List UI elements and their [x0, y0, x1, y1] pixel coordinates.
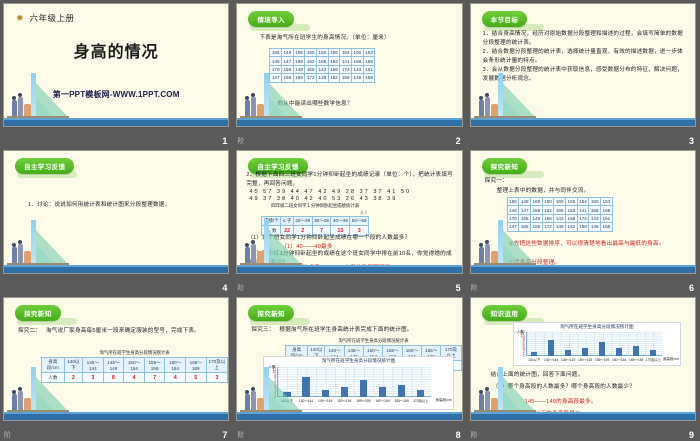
- table-row: 145147159162165153141158169: [507, 206, 612, 214]
- table-cell-value: 7: [144, 373, 165, 382]
- table-header-cell: 170及以上: [206, 358, 228, 373]
- decoration-figure: [474, 218, 544, 266]
- page-number: 1: [222, 136, 227, 146]
- chart-bar: [565, 350, 571, 356]
- section-badge: 情境导入: [248, 11, 294, 27]
- grade-label: 六年级上册: [30, 12, 75, 24]
- table-cell: 165: [317, 57, 329, 65]
- table-cell: 153: [601, 198, 613, 206]
- x-axis-tick: 145～149: [561, 357, 575, 362]
- table-header-cell: 30～39: [312, 217, 331, 226]
- table-caption: 淘气所在班学生身高分段情况统计表: [41, 350, 228, 356]
- table-cell: 162: [542, 206, 554, 214]
- page-badge: 阶: [237, 430, 244, 440]
- table-cell: 169: [363, 57, 375, 65]
- page-badge: 阶: [471, 283, 478, 293]
- page-number: 9: [689, 430, 694, 440]
- page-number: 8: [456, 430, 461, 440]
- slide-footer-bar: [4, 413, 228, 420]
- page-number: 6: [689, 283, 694, 293]
- table-cell: 141: [577, 206, 589, 214]
- table-cell: 154: [577, 198, 589, 206]
- table-header-cell: 165～169: [185, 358, 206, 373]
- decoration-figure: [474, 365, 544, 413]
- discuss-line: 1．讨论：说说如何用统计表和统计图来分段整理数据。: [28, 201, 218, 210]
- table-cell: 151: [601, 214, 613, 222]
- table-cell: 166: [542, 214, 554, 222]
- table-cell: 162: [305, 57, 317, 65]
- chart-bar: [360, 380, 367, 398]
- slide-footer-bar: [471, 413, 695, 420]
- x-axis-tick: 170及以上: [413, 398, 428, 403]
- table-cell: 143: [554, 214, 566, 222]
- slide-cell-2[interactable]: 情境导入 下表是淘气所在班学生的身高情况。（单位：厘米） 16514816815…: [233, 0, 466, 147]
- bar-chart: 淘气所在班学生身高分段情况统计图 0123456789101112人数140以下…: [513, 322, 681, 366]
- slide-grid: ✹ 六年级上册 身高的情况 第一PPT模板网-WWW.1PPT.COM 1 情境…: [0, 0, 700, 441]
- table-cell: 169: [601, 206, 613, 214]
- page-number: 7: [222, 430, 227, 440]
- table-cell: 165: [507, 198, 519, 206]
- table-cell: 160: [352, 49, 364, 57]
- table-cell: 158: [363, 74, 375, 82]
- grade-logo: ✹ 六年级上册: [16, 12, 75, 24]
- chart-title: 淘气所在班学生身高分段情况统计图: [514, 323, 680, 330]
- table-cell: 168: [293, 49, 305, 57]
- table-header-cell: 155～159: [144, 358, 165, 373]
- slide-thumbnail-7[interactable]: 探究新知 探究二： 淘气说厂家身高每5厘米一段来确定服装的型号，完成下表。 淘气…: [3, 297, 229, 421]
- slide-footer-bar: [237, 266, 461, 273]
- table-cell: 158: [328, 65, 340, 73]
- chart-bar: [531, 352, 537, 356]
- x-axis-tick: 155～159: [356, 398, 370, 403]
- section-badge: 本节目标: [482, 11, 528, 27]
- table-header-cell: 40～49: [331, 217, 350, 226]
- chart-bar: [548, 340, 554, 356]
- table-cell: 143: [317, 65, 329, 73]
- table-cell: 160: [589, 198, 601, 206]
- table-cell: 158: [352, 57, 364, 65]
- chart-bar: [417, 390, 424, 398]
- slide-thumbnail-3[interactable]: 本节目标 1．结合身高情况，经历对原始数据分段整理和描述的过程，会填写简单的数据…: [470, 3, 696, 127]
- chart-plot-area: 0123456789101112人数140以下140～144145～149150…: [514, 330, 680, 365]
- star-icon: ✹: [16, 14, 24, 23]
- x-axis-tick: 145～149: [318, 398, 332, 403]
- table-cell: 158: [577, 223, 589, 231]
- table-cell: 154: [340, 49, 352, 57]
- chart-bar: [341, 387, 348, 397]
- chart-bar: [379, 387, 386, 397]
- decoration-figure: [7, 71, 77, 119]
- table-cell: 174: [340, 65, 352, 73]
- table-header-cell: 150～154: [124, 358, 145, 373]
- table-cell: 160: [554, 198, 566, 206]
- slide8-heading: 探究三：: [251, 326, 274, 335]
- table-cell-value: 4: [165, 373, 186, 382]
- table-cell: 146: [352, 74, 364, 82]
- chart-bar: [633, 346, 639, 356]
- x-axis-tick: 150～154: [337, 398, 351, 403]
- table-cell: 165: [270, 49, 282, 57]
- table-cell-value: 3: [206, 373, 228, 382]
- x-axis-tick: 160～164: [612, 357, 626, 362]
- x-axis-tick: 165～169: [629, 357, 643, 362]
- table-cell: 172: [542, 223, 554, 231]
- table-cell: 158: [340, 74, 352, 82]
- slide-cell-8[interactable]: 探究新知 探究三： 根据淘气所在班学生身高统计表完成下面的统计图。 淘气所在班学…: [233, 294, 466, 441]
- x-axis-tick: 155～159: [595, 357, 609, 362]
- page-number: 4: [222, 283, 227, 293]
- table-cell: 150: [305, 49, 317, 57]
- slide-footer-bar: [471, 119, 695, 126]
- x-axis-tick: 160～164: [375, 398, 389, 403]
- chart-bar: [599, 342, 605, 356]
- slide-thumbnail-2[interactable]: 情境导入 下表是淘气所在班学生的身高情况。（单位：厘米） 16514816815…: [236, 3, 462, 127]
- table-cell: 147: [519, 206, 531, 214]
- section-badge: 探究新知: [482, 158, 528, 174]
- table-cell: 162: [328, 74, 340, 82]
- slide-footer-bar: [4, 266, 228, 273]
- decoration-figure: [7, 365, 77, 413]
- slide-cell-1[interactable]: ✹ 六年级上册 身高的情况 第一PPT模板网-WWW.1PPT.COM 1: [0, 0, 233, 147]
- decoration-figure: [240, 218, 310, 266]
- table-caption: 淘气所在班学生身高分段情况统计表: [285, 338, 461, 344]
- table-cell: 143: [589, 214, 601, 222]
- slide-cell-9[interactable]: 知识运用 淘气所在班学生身高分段情况统计图 0123456789101112人数…: [467, 294, 700, 441]
- page-badge: 阶: [237, 283, 244, 293]
- slide-cell-6[interactable]: 探究新知 探究一： 整理上表中的数据，并与同伴交流。 1651481681501…: [467, 147, 700, 294]
- chart-bar: [398, 385, 405, 398]
- decoration-figure: [240, 71, 310, 119]
- slide-cell-7[interactable]: 探究新知 探究二： 淘气说厂家身高每5厘米一段来确定服装的型号，完成下表。 淘气…: [0, 294, 233, 441]
- slide2-prompt: 下表是淘气所在班学生的身高情况。（单位：厘米）: [259, 34, 451, 43]
- table-cell: 148: [317, 74, 329, 82]
- table-cell: 153: [363, 49, 375, 57]
- slide-cell-5[interactable]: 自主学习反馈 2．根据下面四三班女同学1分钟仰卧起坐的成绩记录（单位：个），把统…: [233, 147, 466, 294]
- table-cell-value: 3: [83, 373, 104, 382]
- chart-bar: [322, 390, 329, 398]
- x-axis-tick: 140以下: [528, 357, 540, 362]
- table-header-cell: 160～164: [165, 358, 186, 373]
- table-cell: 168: [531, 198, 543, 206]
- section-badge: 探究新知: [15, 305, 61, 321]
- table-header-cell: 145～149: [103, 358, 124, 373]
- table-cell: 158: [601, 223, 613, 231]
- section-badge: 自主学习反馈: [15, 158, 74, 174]
- table-cell: 147: [282, 57, 294, 65]
- table-cell: 143: [352, 65, 364, 73]
- objective-1: 1．结合身高情况，经历对原始数据分段整理和描述的过程，会填写简单的数据分段整理的…: [483, 30, 687, 47]
- x-axis-tick: 165～169: [394, 398, 408, 403]
- page-badge: 阶: [237, 136, 244, 146]
- slide-footer-bar: [237, 413, 461, 420]
- slide-footer-bar: [237, 119, 461, 126]
- chart-gridlines: [526, 332, 662, 356]
- slide-thumbnail-4[interactable]: 自主学习反馈 1．讨论：说说如何用统计表和统计图来分段整理数据。: [3, 150, 229, 274]
- page-number: 3: [689, 136, 694, 146]
- table-cell: 165: [554, 206, 566, 214]
- slide-footer-bar: [4, 119, 228, 126]
- table-cell: 145: [270, 57, 282, 65]
- page-badge: 阶: [471, 430, 478, 440]
- table-cell: 141: [340, 57, 352, 65]
- table-cell: 151: [363, 65, 375, 73]
- x-axis-tick: 170及以上: [645, 357, 660, 362]
- slide-cell-4[interactable]: 自主学习反馈 1．讨论：说说如何用统计表和统计图来分段整理数据。 4: [0, 147, 233, 294]
- table-caption: 四年级二班女同学１分钟仰卧起坐成绩统计表: [261, 203, 369, 209]
- x-axis-tick: 150～154: [578, 357, 592, 362]
- table-cell: 148: [554, 223, 566, 231]
- table-cell: 153: [566, 206, 578, 214]
- x-axis-label: 身高段/cm: [663, 357, 679, 362]
- objective-2: 2．结合数据分段整理的统计表，选择统计量直观、有效的描述数据，进一步体会条形统计…: [483, 48, 687, 65]
- table-row: 165148168150160155154160153: [270, 49, 375, 57]
- page-badge: 阶: [4, 430, 11, 440]
- table-cell: 150: [542, 198, 554, 206]
- table-row: 165148168150160155154160153: [507, 198, 612, 206]
- slide-thumbnail-5[interactable]: 自主学习反馈 2．根据下面四三班女同学1分钟仰卧起坐的成绩记录（单位：个），把统…: [236, 150, 462, 274]
- table-cell: 158: [566, 214, 578, 222]
- table-cell: 160: [317, 49, 329, 57]
- page-number: 2: [456, 136, 461, 146]
- table-cell: 145: [507, 206, 519, 214]
- table-header-cell: 50～59: [350, 217, 369, 226]
- section-badge: 探究新知: [248, 305, 294, 321]
- table-cell-value: 4: [124, 373, 145, 382]
- table-cell: 146: [589, 223, 601, 231]
- slide7-heading: 探究二：: [18, 327, 41, 336]
- slide6-prompt: 整理上表中的数据，并与同伴交流。: [497, 187, 590, 196]
- slide-thumbnail-6[interactable]: 探究新知 探究一： 整理上表中的数据，并与同伴交流。 1651481681501…: [470, 150, 696, 274]
- decoration-figure: [474, 71, 544, 119]
- table-cell: 148: [282, 49, 294, 57]
- table-cell-value: 5: [185, 373, 206, 382]
- slide-cell-3[interactable]: 本节目标 1．结合身高情况，经历对原始数据分段整理和描述的过程，会填写简单的数据…: [467, 0, 700, 147]
- slide7-prompt: 淘气说厂家身高每5厘米一段来确定服装的型号，完成下表。: [46, 327, 222, 336]
- chart-title: 淘气所在班学生身高分段情况统计图: [264, 357, 452, 364]
- page-title: 身高的情况: [4, 38, 228, 62]
- table-cell-value: 8: [103, 373, 124, 382]
- table-cell: 155: [566, 198, 578, 206]
- chart-bar: [582, 348, 588, 356]
- section-badge: 知识运用: [482, 305, 528, 321]
- slide-thumbnail-1[interactable]: ✹ 六年级上册 身高的情况 第一PPT模板网-WWW.1PPT.COM: [3, 3, 229, 127]
- table-cell: 158: [589, 206, 601, 214]
- table-cell: 153: [328, 57, 340, 65]
- table-cell: 148: [519, 198, 531, 206]
- chart-bar: [650, 350, 656, 356]
- decoration-figure: [240, 365, 310, 413]
- slide-thumbnail-9[interactable]: 知识运用 淘气所在班学生身高分段情况统计图 0123456789101112人数…: [470, 297, 696, 421]
- page-number: 5: [456, 283, 461, 293]
- table-header-cell: 140～144: [83, 358, 104, 373]
- table-cell: 162: [566, 223, 578, 231]
- slide-thumbnail-8[interactable]: 探究新知 探究三： 根据淘气所在班学生身高统计表完成下面的统计图。 淘气所在班学…: [236, 297, 462, 421]
- table-cell: 155: [328, 49, 340, 57]
- table-row: 145147159162165153141158169: [270, 57, 375, 65]
- y-axis-label: 人数: [517, 330, 524, 335]
- table-cell: 159: [293, 57, 305, 65]
- x-axis-label: 身高段/cm: [436, 398, 452, 403]
- slide5-prompt: 2．根据下面四三班女同学1分钟仰卧起坐的成绩记录（单位：个），把统计表填写完整，…: [246, 171, 455, 188]
- table-cell: 159: [531, 206, 543, 214]
- x-axis-tick: 140～144: [544, 357, 558, 362]
- slide8-prompt: 根据淘气所在班学生身高统计表完成下面的统计图。: [279, 326, 455, 335]
- table-cell: 174: [577, 214, 589, 222]
- slide-footer-bar: [471, 266, 695, 273]
- decoration-figure: [7, 218, 77, 266]
- slide6-heading: 探究一：: [485, 177, 508, 186]
- chart-bar: [616, 348, 622, 356]
